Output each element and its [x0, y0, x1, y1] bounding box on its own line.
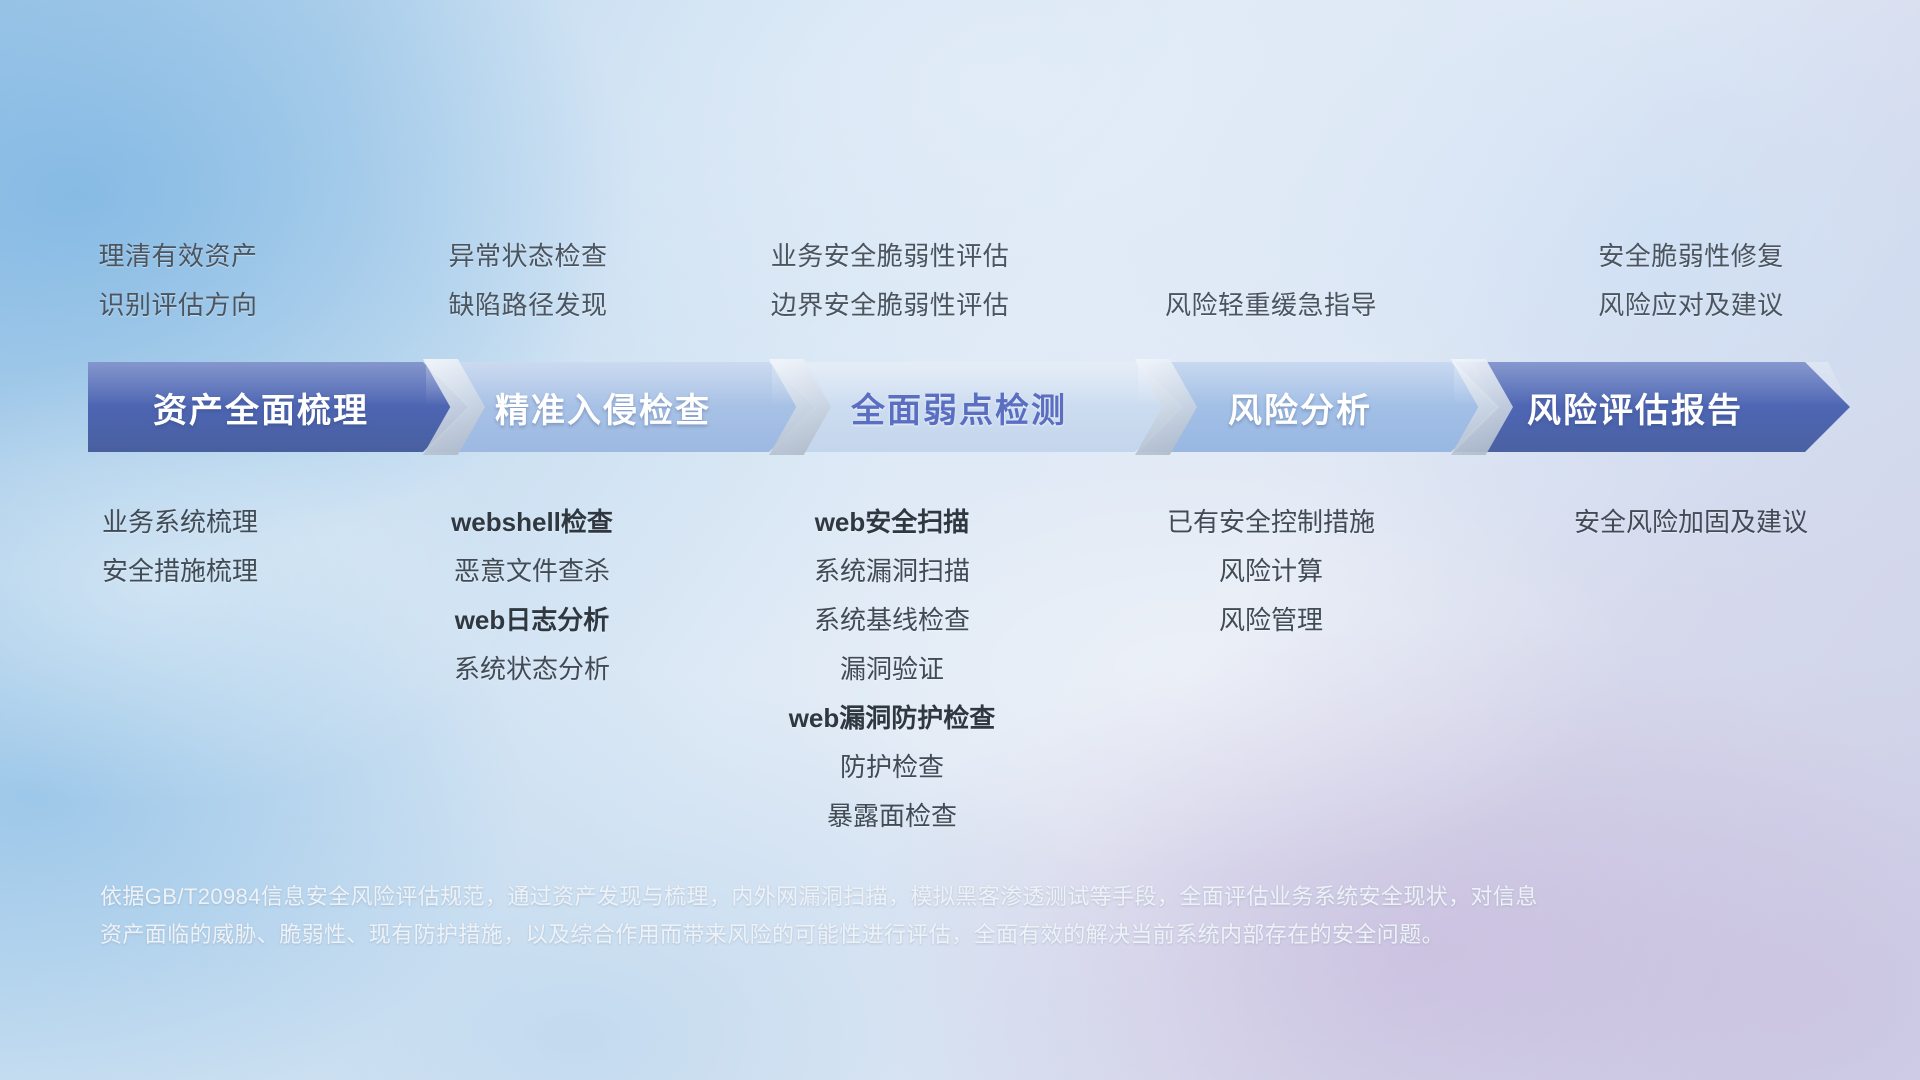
list-item: 恶意文件查杀 [454, 547, 610, 596]
top-note: 识别评估方向 [98, 281, 257, 330]
list-item: webshell检查 [451, 498, 613, 547]
list-item: 业务系统梳理 [102, 498, 258, 547]
list-item: web安全扫描 [815, 498, 970, 547]
stage-arrow-1[interactable]: 资产全面梳理 [88, 362, 468, 452]
top-note: 业务安全脆弱性评估 [771, 232, 1010, 281]
top-notes-col-4: 风险轻重缓急指导 [1080, 232, 1462, 330]
top-note: 边界安全脆弱性评估 [771, 281, 1010, 330]
stage-title: 精准入侵检查 [426, 383, 814, 432]
stage-title: 全面弱点检测 [772, 383, 1180, 432]
stage-arrow-2[interactable]: 精准入侵检查 [426, 362, 814, 452]
top-note: 理清有效资产 [98, 232, 257, 281]
bottom-list-col-5: 安全风险加固及建议 [1462, 498, 1920, 547]
list-item: 系统漏洞扫描 [814, 547, 970, 596]
footer-line-2: 资产面临的威胁、脆弱性、现有防护措施，以及综合作用而带来风险的可能性进行评估，全… [100, 916, 1740, 954]
top-note: 缺陷路径发现 [448, 281, 607, 330]
top-note: 安全脆弱性修复 [1598, 232, 1784, 281]
list-item: 安全措施梳理 [102, 547, 258, 596]
top-note: 风险轻重缓急指导 [1165, 281, 1377, 330]
list-item: 系统基线检查 [814, 596, 970, 645]
stage-arrow-5[interactable]: 风险评估报告 [1454, 362, 1850, 452]
footer-line-1: 依据GB/T20984信息安全风险评估规范，通过资产发现与梳理，内外网漏洞扫描，… [100, 878, 1740, 916]
list-item: web日志分析 [455, 596, 610, 645]
top-notes-row: 理清有效资产 识别评估方向 异常状态检查 缺陷路径发现 业务安全脆弱性评估 边界… [0, 232, 1920, 330]
list-item: 已有安全控制措施 [1167, 498, 1375, 547]
list-item: 防护检查 [840, 743, 944, 792]
process-banner: 资产全面梳理 精准入侵检查 全面弱点检测 风险分析 风险评估报告 [88, 362, 1850, 452]
top-notes-col-2: 异常状态检查 缺陷路径发现 [356, 232, 700, 330]
top-note: 异常状态检查 [448, 232, 607, 281]
list-item: 风险计算 [1219, 547, 1323, 596]
list-item: 暴露面检查 [827, 792, 957, 841]
list-item: 安全风险加固及建议 [1574, 498, 1808, 547]
list-item: 系统状态分析 [454, 645, 610, 694]
top-notes-col-3: 业务安全脆弱性评估 边界安全脆弱性评估 [700, 232, 1080, 330]
bottom-list-col-2: webshell检查 恶意文件查杀 web日志分析 系统状态分析 [360, 498, 704, 694]
stage-arrow-4[interactable]: 风险分析 [1138, 362, 1496, 452]
slide-canvas: 理清有效资产 识别评估方向 异常状态检查 缺陷路径发现 业务安全脆弱性评估 边界… [0, 0, 1920, 1080]
list-item: 风险管理 [1219, 596, 1323, 645]
stage-title: 资产全面梳理 [88, 383, 468, 432]
bottom-list-col-1: 业务系统梳理 安全措施梳理 [0, 498, 360, 596]
bottom-list-col-3: web安全扫描 系统漏洞扫描 系统基线检查 漏洞验证 web漏洞防护检查 防护检… [704, 498, 1080, 841]
bottom-lists-row: 业务系统梳理 安全措施梳理 webshell检查 恶意文件查杀 web日志分析 … [0, 498, 1920, 841]
list-item: 漏洞验证 [840, 645, 944, 694]
top-notes-col-5: 安全脆弱性修复 风险应对及建议 [1462, 232, 1920, 330]
stage-title: 风险评估报告 [1454, 383, 1850, 432]
footer-description: 依据GB/T20984信息安全风险评估规范，通过资产发现与梳理，内外网漏洞扫描，… [100, 878, 1740, 954]
stage-arrow-3[interactable]: 全面弱点检测 [772, 362, 1180, 452]
top-note: 风险应对及建议 [1598, 281, 1784, 330]
top-notes-col-1: 理清有效资产 识别评估方向 [0, 232, 356, 330]
stage-title: 风险分析 [1138, 383, 1496, 432]
bottom-list-col-4: 已有安全控制措施 风险计算 风险管理 [1080, 498, 1462, 645]
list-item: web漏洞防护检查 [789, 694, 996, 743]
